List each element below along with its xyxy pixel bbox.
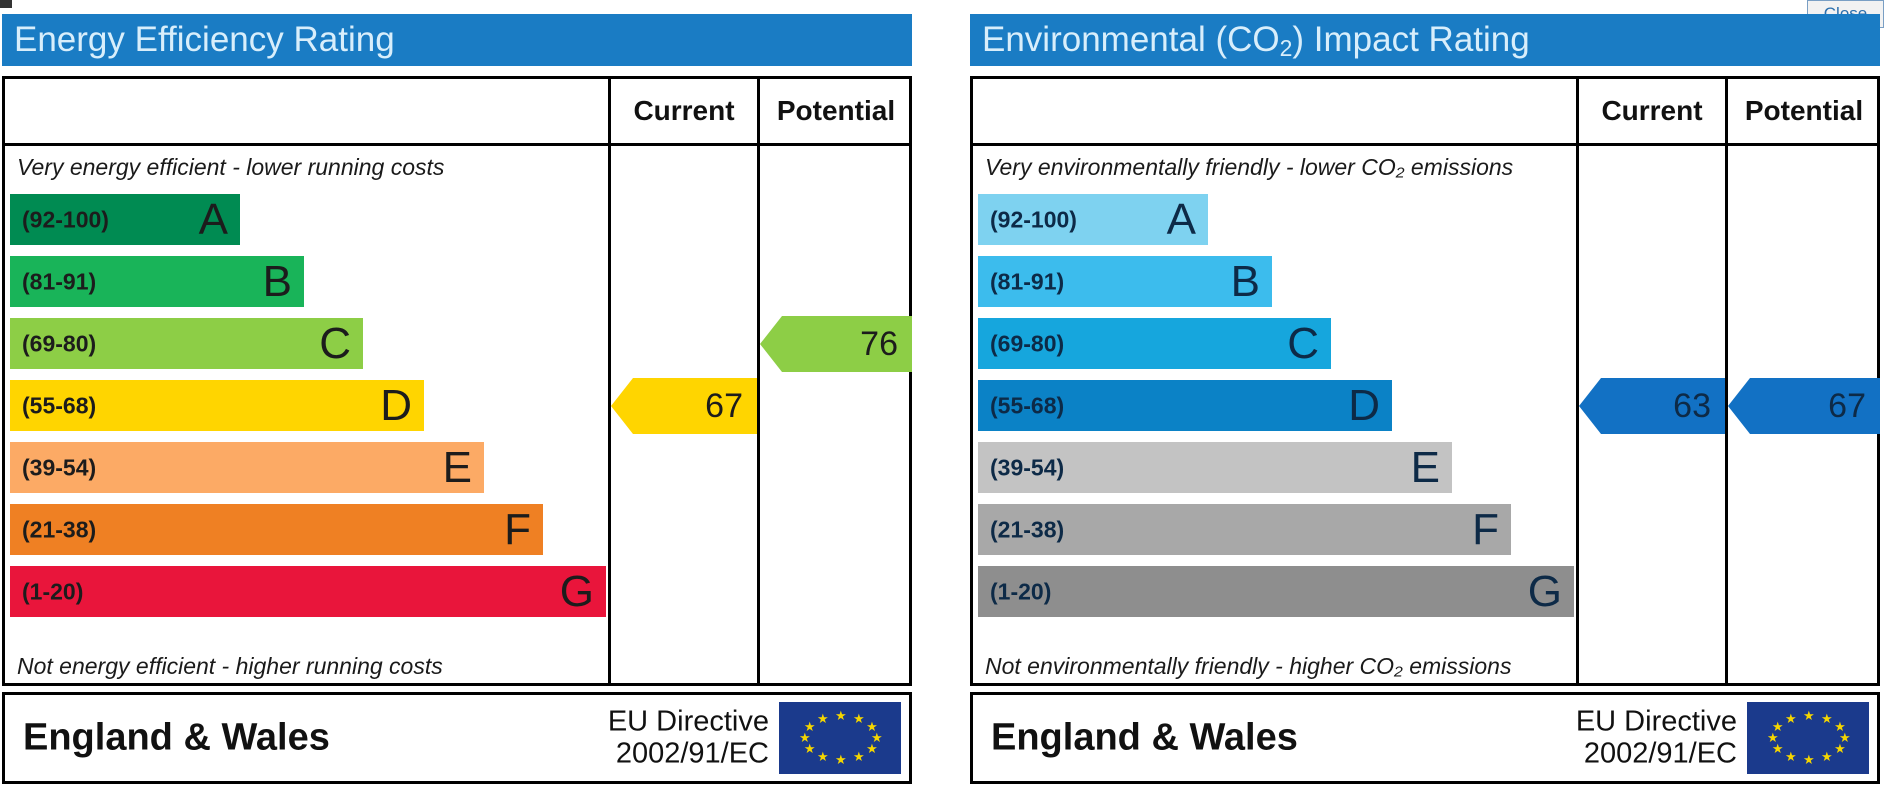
column-divider-2: [1725, 79, 1728, 683]
eu-star-icon: ★: [866, 744, 876, 754]
eu-flag-icon: ★★★★★★★★★★★★: [1747, 702, 1869, 774]
table-header-row: Current Potential: [973, 79, 1877, 146]
energy-rating-table: Current Potential Very energy efficient …: [2, 76, 912, 686]
band-letter-a: A: [199, 198, 228, 242]
footer-directive: EU Directive 2002/91/EC: [1576, 706, 1737, 771]
band-letter-b: B: [263, 260, 292, 304]
column-header-potential: Potential: [760, 79, 912, 143]
potential-rating-value: 76: [860, 325, 898, 364]
band-range-label: (21-38): [22, 516, 96, 543]
band-range-label: (55-68): [990, 392, 1064, 419]
rating-band-a: (92-100)A: [978, 194, 1208, 245]
eu-star-icon: ★: [1772, 744, 1782, 754]
rating-band-g: (1-20)G: [10, 566, 606, 617]
table-header-row: Current Potential: [5, 79, 909, 146]
potential-rating-arrow: 67: [1728, 378, 1880, 434]
potential-rating-value: 67: [1828, 387, 1866, 426]
eu-star-icon: ★: [804, 722, 814, 732]
band-range-label: (81-91): [22, 268, 96, 295]
co2-bands-area: Very environmentally friendly - lower CO…: [973, 146, 1576, 686]
eu-star-icon: ★: [1834, 744, 1844, 754]
rating-band-c: (69-80)C: [10, 318, 363, 369]
directive-line-1: EU Directive: [608, 706, 769, 738]
rating-band-d: (55-68)D: [978, 380, 1392, 431]
energy-bands-area: Very energy efficient - lower running co…: [5, 146, 608, 686]
panel-title-co2-tail: ) Impact Rating: [1292, 20, 1529, 59]
eu-star-icon: ★: [799, 733, 809, 743]
eu-star-icon: ★: [1821, 752, 1831, 762]
eu-flag-icon: ★★★★★★★★★★★★: [779, 702, 901, 774]
rating-band-f: (21-38)F: [10, 504, 543, 555]
eu-star-icon: ★: [835, 755, 845, 765]
column-header-current: Current: [1579, 79, 1725, 143]
band-range-label: (21-38): [990, 516, 1064, 543]
band-range-label: (92-100): [990, 206, 1077, 233]
caption-bottom-energy: Not energy efficient - higher running co…: [17, 653, 443, 680]
band-range-label: (39-54): [22, 454, 96, 481]
caption-top-co2: Very environmentally friendly - lower CO…: [985, 154, 1513, 181]
band-letter-f: F: [1472, 508, 1499, 552]
column-header-potential: Potential: [1728, 79, 1880, 143]
current-rating-value: 67: [705, 387, 743, 426]
eu-star-icon: ★: [1785, 714, 1795, 724]
directive-line-2: 2002/91/EC: [608, 738, 769, 770]
footer-region-label: England & Wales: [991, 717, 1298, 760]
rating-band-f: (21-38)F: [978, 504, 1511, 555]
band-letter-c: C: [319, 322, 351, 366]
epc-certificate-graphs: Close Energy Efficiency Rating Current P…: [0, 0, 1884, 795]
band-range-label: (69-80): [990, 330, 1064, 357]
energy-efficiency-panel: Energy Efficiency Rating Current Potenti…: [0, 14, 916, 789]
eu-star-icon: ★: [1785, 752, 1795, 762]
column-divider-1: [1576, 79, 1579, 683]
band-letter-e: E: [1411, 446, 1440, 490]
window-corner-nub: [0, 0, 12, 8]
eu-star-icon: ★: [853, 752, 863, 762]
directive-line-2: 2002/91/EC: [1576, 738, 1737, 770]
eu-star-icon: ★: [1821, 714, 1831, 724]
panel-title-co2-head: Environmental (CO: [982, 20, 1280, 59]
eu-star-icon: ★: [817, 714, 827, 724]
current-rating-arrow: 67: [611, 378, 757, 434]
eu-star-icon: ★: [853, 714, 863, 724]
eu-star-icon: ★: [1803, 711, 1813, 721]
band-letter-b: B: [1231, 260, 1260, 304]
footer-region-label: England & Wales: [23, 717, 330, 760]
band-range-label: (1-20): [22, 578, 83, 605]
eu-star-icon: ★: [804, 744, 814, 754]
footer-directive: EU Directive 2002/91/EC: [608, 706, 769, 771]
band-range-label: (92-100): [22, 206, 109, 233]
rating-band-e: (39-54)E: [10, 442, 484, 493]
directive-line-1: EU Directive: [1576, 706, 1737, 738]
band-letter-f: F: [504, 508, 531, 552]
column-divider-2: [757, 79, 760, 683]
band-letter-a: A: [1167, 198, 1196, 242]
column-header-current: Current: [611, 79, 757, 143]
band-range-label: (1-20): [990, 578, 1051, 605]
co2-subscript: 2: [1280, 35, 1293, 61]
band-range-label: (39-54): [990, 454, 1064, 481]
band-letter-d: D: [1348, 384, 1380, 428]
rating-band-c: (69-80)C: [978, 318, 1331, 369]
band-letter-g: G: [1528, 570, 1562, 614]
band-letter-c: C: [1287, 322, 1319, 366]
band-range-label: (69-80): [22, 330, 96, 357]
band-letter-e: E: [443, 446, 472, 490]
energy-footer: England & Wales EU Directive 2002/91/EC …: [2, 692, 912, 784]
co2-impact-panel: Environmental (CO2) Impact Rating Curren…: [968, 14, 1884, 789]
rating-band-a: (92-100)A: [10, 194, 240, 245]
rating-band-e: (39-54)E: [978, 442, 1452, 493]
band-letter-g: G: [560, 570, 594, 614]
eu-star-icon: ★: [1767, 733, 1777, 743]
band-letter-d: D: [380, 384, 412, 428]
current-rating-value: 63: [1673, 387, 1711, 426]
eu-star-icon: ★: [1772, 722, 1782, 732]
current-rating-arrow: 63: [1579, 378, 1725, 434]
rating-band-d: (55-68)D: [10, 380, 424, 431]
band-range-label: (81-91): [990, 268, 1064, 295]
rating-band-b: (81-91)B: [10, 256, 304, 307]
rating-band-g: (1-20)G: [978, 566, 1574, 617]
eu-star-icon: ★: [835, 711, 845, 721]
co2-footer: England & Wales EU Directive 2002/91/EC …: [970, 692, 1880, 784]
eu-star-icon: ★: [1803, 755, 1813, 765]
band-range-label: (55-68): [22, 392, 96, 419]
column-divider-1: [608, 79, 611, 683]
caption-top-energy: Very energy efficient - lower running co…: [17, 154, 444, 181]
potential-rating-arrow: 76: [760, 316, 912, 372]
co2-rating-table: Current Potential Very environmentally f…: [970, 76, 1880, 686]
rating-band-b: (81-91)B: [978, 256, 1272, 307]
panel-title-co2: Environmental (CO2) Impact Rating: [970, 14, 1880, 66]
panel-title-energy: Energy Efficiency Rating: [2, 14, 912, 66]
caption-bottom-co2: Not environmentally friendly - higher CO…: [985, 653, 1511, 680]
eu-star-icon: ★: [817, 752, 827, 762]
